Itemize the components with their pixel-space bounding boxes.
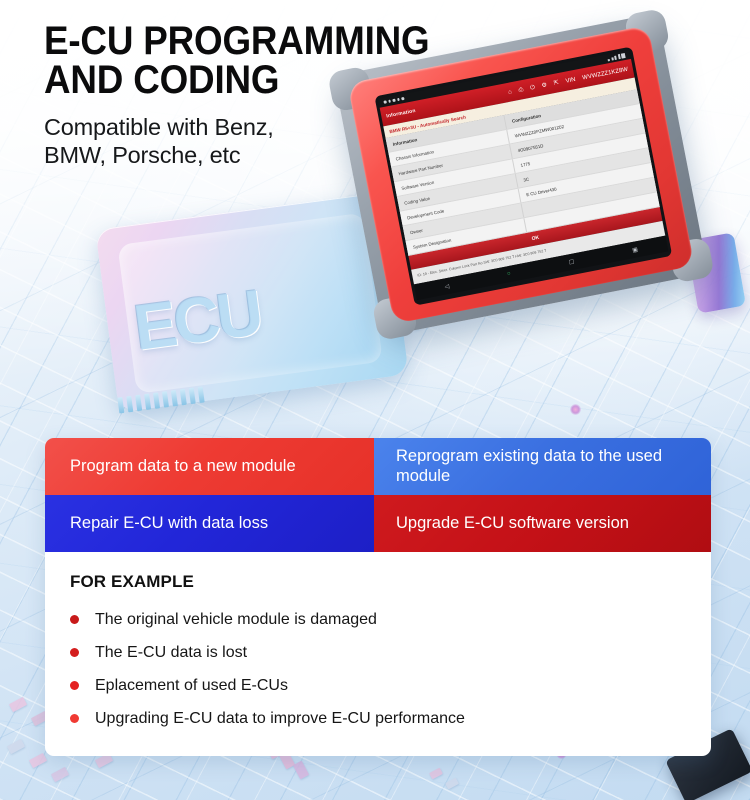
save-icon[interactable]: ⏻ [530, 84, 536, 91]
list-item-label: Upgrading E-CU data to improve E-CU perf… [95, 710, 465, 728]
vin-value: WVWZZZ1KZ8W [582, 66, 629, 81]
circuit-node [570, 404, 581, 415]
list-item: Eplacement of used E-CUs [70, 669, 711, 702]
vin-label: VIN [565, 76, 576, 84]
bullet-icon [70, 615, 79, 624]
headline-block: E-CU PROGRAMMING AND CODING Compatible w… [44, 22, 463, 170]
for-example-heading: FOR EXAMPLE [70, 572, 711, 592]
ecu-chip-label: ECU [130, 280, 263, 360]
info-card: Program data to a new module Reprogram e… [45, 438, 711, 756]
bullet-icon [70, 648, 79, 657]
smd-component [29, 753, 47, 768]
feature-box-upgrade-software[interactable]: Upgrade E-CU software version [374, 495, 711, 552]
smd-component [293, 761, 309, 780]
list-item: The E-CU data is lost [70, 636, 711, 669]
help-icon[interactable]: ⚙ [541, 82, 547, 89]
page-title: E-CU PROGRAMMING AND CODING [44, 22, 429, 100]
smd-component [9, 697, 27, 712]
smd-component [7, 739, 25, 754]
list-item-label: Eplacement of used E-CUs [95, 677, 288, 695]
list-item: The original vehicle module is damaged [70, 603, 711, 636]
feature-box-reprogram-used-module[interactable]: Reprogram existing data to the used modu… [374, 438, 711, 495]
feature-box-program-new-module[interactable]: Program data to a new module [45, 438, 374, 495]
bullet-icon [70, 681, 79, 690]
smd-component [445, 778, 459, 790]
smd-component [429, 768, 443, 780]
list-item-label: The original vehicle module is damaged [95, 611, 377, 629]
poster-canvas: E-CU PROGRAMMING AND CODING Compatible w… [0, 0, 750, 800]
feature-box-repair-data-loss[interactable]: Repair E-CU with data loss [45, 495, 374, 552]
page-subtitle: Compatible with Benz, BMW, Porsche, etc [44, 113, 463, 170]
print-icon[interactable]: ⎙ [518, 87, 524, 94]
exit-icon[interactable]: ⇱ [553, 80, 559, 87]
example-list: The original vehicle module is damagedTh… [70, 603, 711, 735]
bullet-icon [70, 714, 79, 723]
list-item: Upgrading E-CU data to improve E-CU perf… [70, 702, 711, 735]
home-icon[interactable]: ⌂ [508, 89, 513, 96]
back-icon[interactable]: ◁ [444, 282, 450, 290]
recents-icon[interactable]: ☐ [568, 258, 575, 266]
home-icon[interactable]: ○ [507, 271, 512, 278]
screenshot-icon[interactable]: ▣ [632, 246, 639, 254]
smd-component [51, 767, 69, 782]
list-item-label: The E-CU data is lost [95, 644, 247, 662]
feature-box-grid: Program data to a new module Reprogram e… [45, 438, 711, 552]
for-example-section: FOR EXAMPLE The original vehicle module … [45, 552, 711, 735]
